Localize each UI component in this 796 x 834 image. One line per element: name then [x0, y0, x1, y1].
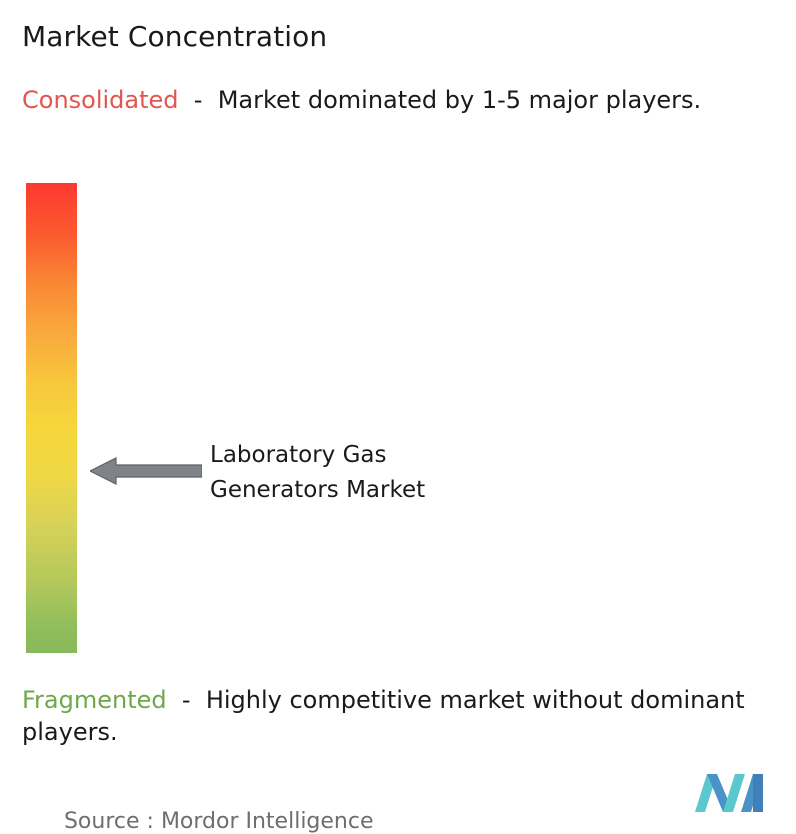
fragmented-separator: -: [167, 686, 206, 714]
market-marker-annotation: Laboratory Gas Generators Market: [90, 438, 520, 513]
mordor-intelligence-logo: [693, 772, 765, 814]
source-value: Mordor Intelligence: [161, 809, 374, 834]
marker-label-line2: Generators Market: [210, 473, 530, 508]
market-concentration-infographic: Market Concentration Consolidated - Mark…: [0, 0, 796, 834]
left-arrow-icon: [90, 456, 202, 486]
source-label: Source :: [64, 809, 154, 834]
consolidated-separator: -: [179, 86, 218, 114]
consolidated-description: Market dominated by 1-5 major players.: [218, 86, 701, 114]
consolidated-caption: Consolidated - Market dominated by 1-5 m…: [22, 84, 762, 116]
marker-label: Laboratory Gas Generators Market: [210, 438, 530, 508]
footer: Source : Mordor Intelligence: [0, 770, 796, 830]
source-attribution: Source : Mordor Intelligence: [22, 780, 374, 834]
fragmented-caption: Fragmented - Highly competitive market w…: [22, 684, 784, 748]
consolidated-keyword: Consolidated: [22, 86, 179, 114]
marker-label-line1: Laboratory Gas: [210, 438, 530, 473]
page-title: Market Concentration: [22, 20, 327, 54]
fragmented-keyword: Fragmented: [22, 686, 167, 714]
concentration-gradient-scale: [26, 183, 77, 653]
